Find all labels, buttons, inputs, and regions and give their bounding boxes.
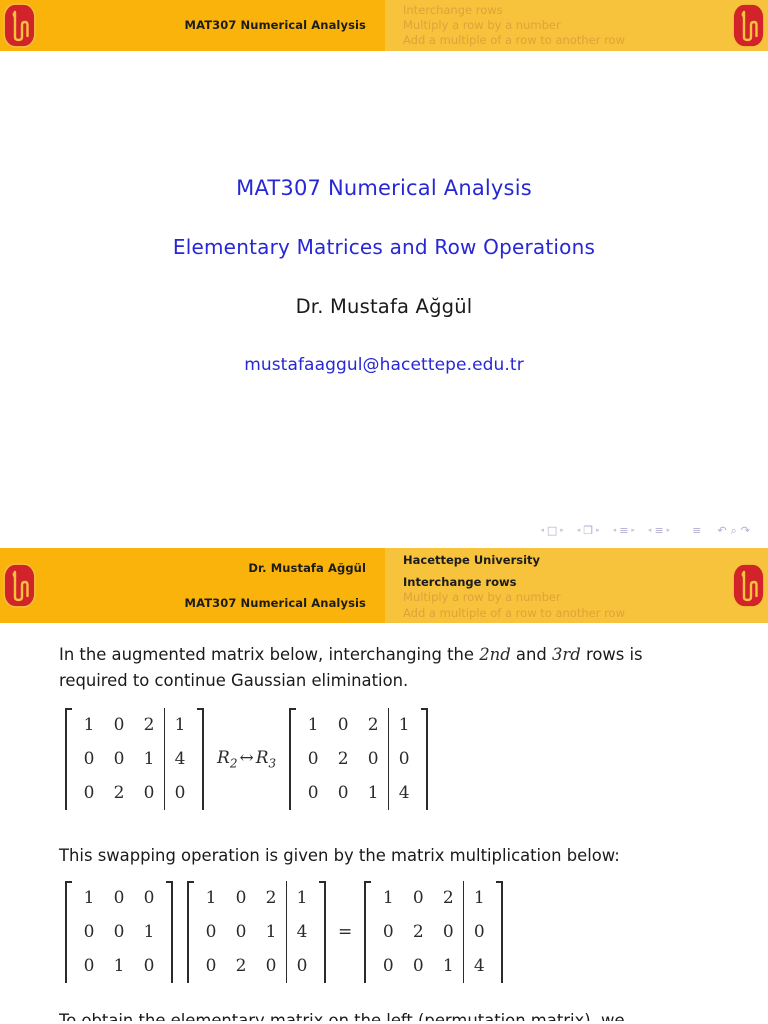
matrix-cell: 0 xyxy=(226,915,256,949)
matrix-cell: 0 xyxy=(74,915,104,949)
matrix-cell: 4 xyxy=(165,742,195,776)
matrix-column: 0 0 2 xyxy=(104,708,134,810)
header-author-label: Dr. Mustafa Ağgül xyxy=(248,562,366,575)
matrix-cell: 2 xyxy=(226,949,256,983)
bracket-right xyxy=(317,881,326,983)
bracket-right xyxy=(195,708,204,810)
matrix-column: 0 2 0 xyxy=(403,881,433,983)
slide-2-body: In the augmented matrix below, interchan… xyxy=(0,623,768,1024)
bracket-right xyxy=(494,881,503,983)
matrix-cell: 1 xyxy=(373,881,403,915)
matrix-cell: 1 xyxy=(464,881,494,915)
matrix-cell: 0 xyxy=(373,949,403,983)
paragraph-intro-part1: In the augmented matrix below, interchan… xyxy=(59,645,479,664)
header-course-label: MAT307 Numerical Analysis xyxy=(185,19,366,32)
matrix-cell: 0 xyxy=(403,949,433,983)
nav-item-multiply-row[interactable]: Multiply a row by a number xyxy=(403,18,710,33)
matrix-cell: 2 xyxy=(433,881,463,915)
bracket-right xyxy=(164,881,173,983)
matrix-cell: 1 xyxy=(256,915,286,949)
paragraph-elementary-matrix-clipped: To obtain the elementary matrix on the l… xyxy=(59,1008,708,1021)
title-block: MAT307 Numerical Analysis Elementary Mat… xyxy=(0,176,768,375)
bracket-left xyxy=(289,708,298,810)
matrix-cell: 4 xyxy=(389,776,419,810)
matrix-cell: 0 xyxy=(74,742,104,776)
beamer-navigation-symbols[interactable]: ◂ □ ▸ ◂ ❐ ▸ ◂ ≡ ▸ ◂ ≡ ▸ ≡ ↶ ⌕ ↷ xyxy=(540,525,750,536)
bracket-left xyxy=(364,881,373,983)
paragraph-intro: In the augmented matrix below, interchan… xyxy=(59,642,708,693)
matrix-cell: 1 xyxy=(287,881,317,915)
next-subsection-icon[interactable]: ▸ xyxy=(631,527,635,534)
row-swap-operator: R2↔R3 xyxy=(204,748,289,770)
matrix-cell: 0 xyxy=(373,915,403,949)
header-left-text: MAT307 Numerical Analysis xyxy=(185,0,366,51)
matrix-cell: 0 xyxy=(104,742,134,776)
matrix-cell: 0 xyxy=(403,881,433,915)
search-nav-icon[interactable]: ⌕ xyxy=(731,525,737,536)
matrix-cell: 0 xyxy=(389,742,419,776)
matrix-cell: 0 xyxy=(74,949,104,983)
matrix-cell: 0 xyxy=(287,949,317,983)
matrix-cell: 0 xyxy=(104,915,134,949)
matrix-cells: 1 0 0 0 0 2 2 1 0 1 xyxy=(74,708,195,810)
slide-2-header: Dr. Mustafa Ağgül MAT307 Numerical Analy… xyxy=(0,548,768,623)
matrix-cell: 2 xyxy=(328,742,358,776)
matrix-cell: 4 xyxy=(464,949,494,983)
hacettepe-logo-icon xyxy=(3,3,36,48)
frame-nav-icon[interactable]: ❐ xyxy=(583,525,593,536)
page-subtitle: Elementary Matrices and Row Operations xyxy=(0,235,768,259)
matrix-cell: 0 xyxy=(165,776,195,810)
matrix-column: 1 0 0 xyxy=(298,708,328,810)
slide-nav-icon[interactable]: □ xyxy=(547,525,557,536)
matrix-cell: 0 xyxy=(196,949,226,983)
matrix-cell: 0 xyxy=(464,915,494,949)
matrix-cells: 1 0 0 0 0 2 2 1 0 1 xyxy=(196,881,317,983)
matrix-column: 2 1 0 xyxy=(134,708,164,810)
matrix-cell: 0 xyxy=(298,776,328,810)
augmented-matrix: 1 0 0 0 0 2 2 1 0 1 xyxy=(187,881,326,983)
matrix-cell: 0 xyxy=(104,708,134,742)
bracket-left xyxy=(65,708,74,810)
equation-row-swap: 1 0 0 0 0 2 2 1 0 1 xyxy=(65,708,428,810)
matrix-column: 2 0 1 xyxy=(358,708,388,810)
header-left-panel: Dr. Mustafa Ağgül MAT307 Numerical Analy… xyxy=(0,548,385,623)
matrix-augment-column: 1 0 4 xyxy=(388,708,419,810)
equals-sign: = xyxy=(326,922,364,942)
header-nav-list: Hacettepe University Interchange rows Mu… xyxy=(403,548,710,623)
nav-item-interchange-rows[interactable]: Interchange rows xyxy=(403,575,710,590)
section-nav-icon[interactable]: ≡ xyxy=(654,525,663,536)
matrix-cell: 4 xyxy=(287,915,317,949)
matrix-column: 1 0 0 xyxy=(373,881,403,983)
nav-item-interchange-rows[interactable]: Interchange rows xyxy=(403,3,710,18)
permutation-matrix: 1 0 0 0 0 1 0 1 0 xyxy=(65,881,173,983)
matrix-cell: 0 xyxy=(433,915,463,949)
matrix-cell: 1 xyxy=(134,742,164,776)
matrix-column: 0 1 0 xyxy=(134,881,164,983)
header-right-panel: Interchange rows Multiply a row by a num… xyxy=(385,0,768,51)
ordinal-3rd: 3rd xyxy=(552,645,581,664)
matrix-cell: 2 xyxy=(358,708,388,742)
frame-nav-group[interactable]: ◂ ❐ ▸ xyxy=(577,525,600,536)
operator-r2-label: R xyxy=(217,748,230,768)
slide-nav-group[interactable]: ◂ □ ▸ xyxy=(540,525,563,536)
slide-1: MAT307 Numerical Analysis Interchange ro… xyxy=(0,0,768,548)
matrix-cell: 0 xyxy=(134,776,164,810)
matrix-before-swap: 1 0 0 0 0 2 2 1 0 1 xyxy=(65,708,204,810)
matrix-cell: 1 xyxy=(358,776,388,810)
matrix-cells: 1 0 0 0 2 0 2 0 1 1 xyxy=(298,708,419,810)
matrix-cell: 0 xyxy=(358,742,388,776)
back-nav-icon[interactable]: ↶ xyxy=(717,525,726,536)
header-left-panel: MAT307 Numerical Analysis xyxy=(0,0,385,51)
matrix-cell: 0 xyxy=(134,949,164,983)
slide-1-body: MAT307 Numerical Analysis Elementary Mat… xyxy=(0,51,768,548)
matrix-cell: 1 xyxy=(74,708,104,742)
result-matrix: 1 0 0 0 2 0 2 0 1 1 xyxy=(364,881,503,983)
matrix-column: 0 2 0 xyxy=(328,708,358,810)
matrix-cell: 0 xyxy=(104,881,134,915)
header-institution-label: Hacettepe University xyxy=(403,553,710,568)
matrix-column: 2 1 0 xyxy=(256,881,286,983)
prev-frame-icon[interactable]: ◂ xyxy=(577,527,581,534)
document-nav-icon[interactable]: ≡ xyxy=(692,525,701,536)
matrix-cell: 1 xyxy=(165,708,195,742)
prev-slide-icon[interactable]: ◂ xyxy=(540,527,544,534)
nav-item-multiply-row[interactable]: Multiply a row by a number xyxy=(403,590,710,605)
hacettepe-logo-icon xyxy=(3,563,36,608)
matrix-augment-column: 1 4 0 xyxy=(164,708,195,810)
matrix-cell: 0 xyxy=(328,776,358,810)
matrix-cells: 1 0 0 0 0 1 0 1 0 xyxy=(74,881,164,983)
swap-arrow-icon: ↔ xyxy=(237,748,255,768)
matrix-column: 0 0 2 xyxy=(226,881,256,983)
forward-nav-icon[interactable]: ↷ xyxy=(741,525,750,536)
bracket-right xyxy=(419,708,428,810)
matrix-cell: 2 xyxy=(134,708,164,742)
matrix-cell: 1 xyxy=(298,708,328,742)
matrix-cell: 0 xyxy=(328,708,358,742)
matrix-cell: 0 xyxy=(196,915,226,949)
next-section-icon[interactable]: ▸ xyxy=(667,527,671,534)
operator-r3-label: R xyxy=(256,748,269,768)
header-nav-list: Interchange rows Multiply a row by a num… xyxy=(403,0,710,51)
slide-1-header: MAT307 Numerical Analysis Interchange ro… xyxy=(0,0,768,51)
matrix-column: 2 0 1 xyxy=(433,881,463,983)
prev-section-icon[interactable]: ◂ xyxy=(648,527,652,534)
matrix-cell: 0 xyxy=(74,776,104,810)
author-name: Dr. Mustafa Ağgül xyxy=(0,295,768,318)
next-frame-icon[interactable]: ▸ xyxy=(596,527,600,534)
header-course-label: MAT307 Numerical Analysis xyxy=(185,597,366,610)
subsection-nav-icon[interactable]: ≡ xyxy=(619,525,628,536)
ordinal-2nd: 2nd xyxy=(479,645,510,664)
matrix-cell: 0 xyxy=(226,881,256,915)
matrix-after-swap: 1 0 0 0 2 0 2 0 1 1 xyxy=(289,708,428,810)
equation-matrix-multiplication: 1 0 0 0 0 1 0 1 0 xyxy=(65,881,503,983)
matrix-cell: 0 xyxy=(298,742,328,776)
matrix-cell: 1 xyxy=(134,915,164,949)
matrix-cell: 0 xyxy=(134,881,164,915)
prev-subsection-icon[interactable]: ◂ xyxy=(613,527,617,534)
matrix-column: 1 0 0 xyxy=(74,881,104,983)
paragraph-intro-part2: and xyxy=(511,645,552,664)
matrix-cells: 1 0 0 0 2 0 2 0 1 1 xyxy=(373,881,494,983)
matrix-cell: 2 xyxy=(256,881,286,915)
header-left-text: Dr. Mustafa Ağgül MAT307 Numerical Analy… xyxy=(185,548,366,623)
matrix-column: 1 0 0 xyxy=(74,708,104,810)
matrix-cell: 1 xyxy=(74,881,104,915)
bracket-left xyxy=(187,881,196,983)
header-right-panel: Hacettepe University Interchange rows Mu… xyxy=(385,548,768,623)
slide-2: Dr. Mustafa Ağgül MAT307 Numerical Analy… xyxy=(0,548,768,1024)
matrix-cell: 0 xyxy=(256,949,286,983)
matrix-cell: 1 xyxy=(196,881,226,915)
author-email[interactable]: mustafaaggul@hacettepe.edu.tr xyxy=(0,355,768,375)
matrix-augment-column: 1 0 4 xyxy=(463,881,494,983)
bracket-left xyxy=(65,881,74,983)
page-title: MAT307 Numerical Analysis xyxy=(0,176,768,200)
matrix-cell: 1 xyxy=(433,949,463,983)
operator-r3-sub: 3 xyxy=(269,756,277,770)
section-nav-group[interactable]: ◂ ≡ ▸ xyxy=(648,525,670,536)
next-slide-icon[interactable]: ▸ xyxy=(560,527,564,534)
matrix-cell: 2 xyxy=(403,915,433,949)
matrix-column: 1 0 0 xyxy=(196,881,226,983)
nav-item-add-multiple-row[interactable]: Add a multiple of a row to another row xyxy=(403,606,710,621)
matrix-cell: 1 xyxy=(389,708,419,742)
paragraph-swapping: This swapping operation is given by the … xyxy=(59,843,708,869)
matrix-augment-column: 1 4 0 xyxy=(286,881,317,983)
matrix-column: 0 0 1 xyxy=(104,881,134,983)
nav-item-add-multiple-row[interactable]: Add a multiple of a row to another row xyxy=(403,33,710,48)
matrix-cell: 1 xyxy=(104,949,134,983)
subsection-nav-group[interactable]: ◂ ≡ ▸ xyxy=(613,525,635,536)
matrix-cell: 2 xyxy=(104,776,134,810)
hacettepe-logo-icon xyxy=(732,563,765,608)
hacettepe-logo-icon xyxy=(732,3,765,48)
